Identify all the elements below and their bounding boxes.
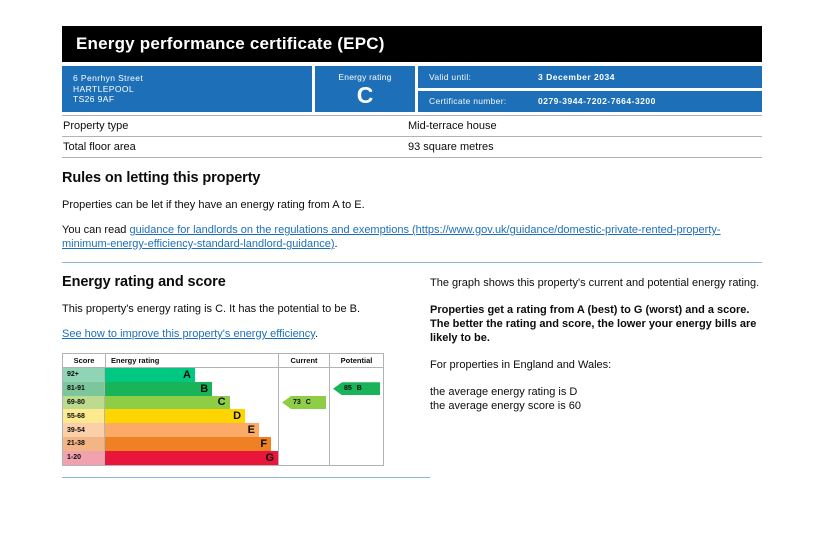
epc-band-track-d: D [105, 409, 278, 423]
epc-band-track-e: E [105, 423, 278, 437]
energy-rating-label: Energy rating [315, 72, 415, 82]
rating-left-column: Energy rating and score This property's … [62, 274, 430, 478]
epc-band-row-c: 69-80C [63, 396, 278, 410]
region-intro: For properties in England and Wales: [430, 358, 762, 372]
address-line-2: HARTLEPOOL [73, 84, 312, 95]
epc-band-track-b: B [105, 382, 278, 396]
epc-current-column: 73C [279, 368, 330, 465]
certificate-number-row: Certificate number: 0279-3944-7202-7664-… [418, 91, 762, 113]
guidance-prefix: You can read [62, 224, 129, 236]
epc-band-bar-b: B [105, 382, 212, 396]
epc-score-range-a: 92+ [63, 368, 105, 382]
column-header-score: Score [63, 354, 106, 367]
epc-potential-column: 85B [330, 368, 383, 465]
epc-score-range-c: 69-80 [63, 396, 105, 410]
property-type-value: Mid-terrace house [408, 120, 762, 132]
rules-heading: Rules on letting this property [62, 170, 762, 186]
column-header-energy-rating: Energy rating [106, 354, 279, 367]
epc-potential-arrow-score: 85 [344, 385, 352, 392]
epc-band-row-e: 39-54E [63, 423, 278, 437]
table-row: Total floor area 93 square metres [62, 137, 762, 158]
epc-band-row-a: 92+A [63, 368, 278, 382]
rating-right-column: The graph shows this property's current … [430, 274, 762, 478]
epc-current-arrow-score: 73 [293, 399, 301, 406]
epc-arrow-columns: 73C 85B [278, 368, 383, 465]
epc-rating-graph: Score Energy rating Current Potential 92… [62, 353, 384, 466]
energy-rating-letter: C [315, 83, 415, 108]
epc-score-range-b: 81-91 [63, 382, 105, 396]
rules-guidance-paragraph: You can read guidance for landlords on t… [62, 223, 762, 251]
rating-heading: Energy rating and score [62, 274, 430, 290]
valid-until-row: Valid until: 3 December 2034 [418, 66, 762, 88]
epc-band-bar-a: A [105, 368, 195, 382]
epc-graph-header: Score Energy rating Current Potential [63, 354, 383, 368]
epc-band-row-b: 81-91B [63, 382, 278, 396]
epc-potential-arrow: 85B [333, 382, 380, 395]
epc-band-track-g: G [105, 451, 278, 465]
epc-band-row-f: 21-38F [63, 437, 278, 451]
rules-paragraph: Properties can be let if they have an en… [62, 198, 762, 212]
rating-summary-text: This property's energy rating is C. It h… [62, 302, 430, 316]
improve-link-paragraph: See how to improve this property's energ… [62, 327, 430, 341]
epc-current-arrow: 73C [282, 396, 326, 409]
epc-band-row-g: 1-20G [63, 451, 278, 465]
epc-band-bar-f: F [105, 437, 271, 451]
graph-explanation-note: Properties get a rating from A (best) to… [430, 303, 762, 345]
epc-band-track-c: C [105, 396, 278, 410]
property-details-table: Property type Mid-terrace house Total fl… [62, 115, 762, 158]
floor-area-value: 93 square metres [408, 141, 762, 153]
guidance-suffix: . [334, 238, 337, 250]
column-header-potential: Potential [330, 354, 383, 367]
landlord-guidance-link[interactable]: guidance for landlords on the regulation… [62, 224, 721, 250]
certificate-meta: Valid until: 3 December 2034 Certificate… [418, 66, 762, 112]
epc-page: Energy performance certificate (EPC) 6 P… [0, 0, 820, 547]
epc-band-track-f: F [105, 437, 278, 451]
floor-area-label: Total floor area [63, 141, 408, 153]
address-line-1: 6 Penrhyn Street [73, 73, 312, 84]
epc-score-range-e: 39-54 [63, 423, 105, 437]
page-title: Energy performance certificate (EPC) [62, 26, 762, 62]
improve-link-suffix: . [315, 328, 318, 340]
certificate-number-label: Certificate number: [418, 96, 538, 106]
property-type-label: Property type [63, 120, 408, 132]
epc-potential-arrow-letter: B [357, 385, 362, 392]
address-postcode: TS26 9AF [73, 94, 312, 105]
table-row: Property type Mid-terrace house [62, 115, 762, 137]
average-energy-rating: the average energy rating is D [430, 385, 762, 399]
epc-band-bar-c: C [105, 396, 230, 410]
epc-score-range-f: 21-38 [63, 437, 105, 451]
epc-band-bar-g: G [105, 451, 278, 465]
certificate-summary: 6 Penrhyn Street HARTLEPOOL TS26 9AF Ene… [62, 66, 762, 112]
epc-score-range-d: 55-68 [63, 409, 105, 423]
valid-until-value: 3 December 2034 [538, 72, 615, 82]
page-content: Energy performance certificate (EPC) 6 P… [62, 26, 762, 478]
certificate-number-value: 0279-3944-7202-7664-3200 [538, 96, 656, 106]
graph-explanation-intro: The graph shows this property's current … [430, 276, 762, 290]
column-header-current: Current [279, 354, 330, 367]
valid-until-label: Valid until: [418, 72, 538, 82]
rating-and-score-section: Energy rating and score This property's … [62, 274, 762, 478]
graph-divider [62, 477, 430, 478]
epc-current-arrow-letter: C [306, 399, 311, 406]
average-energy-score: the average energy score is 60 [430, 399, 762, 413]
epc-band-bar-e: E [105, 423, 259, 437]
epc-score-range-g: 1-20 [63, 451, 105, 465]
energy-rating-badge: Energy rating C [315, 66, 415, 112]
epc-band-bar-d: D [105, 409, 245, 423]
rules-section: Rules on letting this property Propertie… [62, 170, 762, 263]
epc-band-track-a: A [105, 368, 278, 382]
property-address: 6 Penrhyn Street HARTLEPOOL TS26 9AF [62, 66, 312, 112]
section-divider [62, 262, 762, 263]
epc-graph-body: 92+A81-91B69-80C55-68D39-54E21-38F1-20G … [63, 368, 383, 465]
improve-efficiency-link[interactable]: See how to improve this property's energ… [62, 328, 315, 340]
epc-band-row-d: 55-68D [63, 409, 278, 423]
epc-band-list: 92+A81-91B69-80C55-68D39-54E21-38F1-20G [63, 368, 278, 465]
